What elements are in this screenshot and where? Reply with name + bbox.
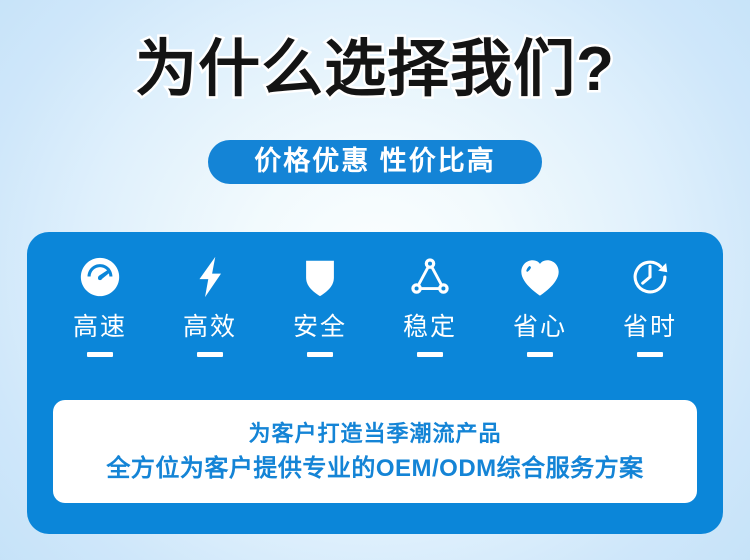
- service-statement-card: 为客户打造当季潮流产品 全方位为客户提供专业的OEM/ODM综合服务方案: [53, 400, 697, 503]
- promo-banner: 为什么选择我们? 价格优惠 性价比高 高速: [0, 0, 750, 560]
- shield-icon: [297, 254, 343, 300]
- page-title: 为什么选择我们?: [135, 37, 615, 102]
- feature-underline: [417, 352, 443, 357]
- feature-underline: [87, 352, 113, 357]
- feature-label: 高效: [183, 313, 237, 341]
- feature-label: 高速: [73, 313, 127, 341]
- feature-item-efficiency: 高效: [157, 254, 263, 357]
- clock-arrow-icon: [627, 254, 673, 300]
- feature-list: 高速 高效 安全: [27, 254, 723, 357]
- feature-item-peace-of-mind: 省心: [487, 254, 593, 357]
- feature-item-security: 安全: [267, 254, 373, 357]
- heart-icon: [517, 254, 563, 300]
- feature-label: 稳定: [403, 313, 457, 341]
- feature-underline: [637, 352, 663, 357]
- network-triangle-icon: [407, 254, 453, 300]
- lightning-bolt-icon: [187, 254, 233, 300]
- service-statement-line-2: 全方位为客户提供专业的OEM/ODM综合服务方案: [106, 453, 643, 485]
- service-statement-line-1: 为客户打造当季潮流产品: [248, 419, 501, 449]
- feature-label: 安全: [293, 313, 347, 341]
- feature-item-time-saving: 省时: [597, 254, 703, 357]
- feature-underline: [527, 352, 553, 357]
- feature-underline: [197, 352, 223, 357]
- subtitle-container: 价格优惠 性价比高: [0, 140, 750, 184]
- gauge-icon: [77, 254, 123, 300]
- feature-item-speed: 高速: [47, 254, 153, 357]
- feature-item-stability: 稳定: [377, 254, 483, 357]
- feature-underline: [307, 352, 333, 357]
- features-panel: 高速 高效 安全: [27, 232, 723, 534]
- subtitle-pill: 价格优惠 性价比高: [208, 140, 542, 184]
- feature-label: 省时: [623, 313, 677, 341]
- title-container: 为什么选择我们?: [0, 37, 750, 102]
- feature-label: 省心: [513, 313, 567, 341]
